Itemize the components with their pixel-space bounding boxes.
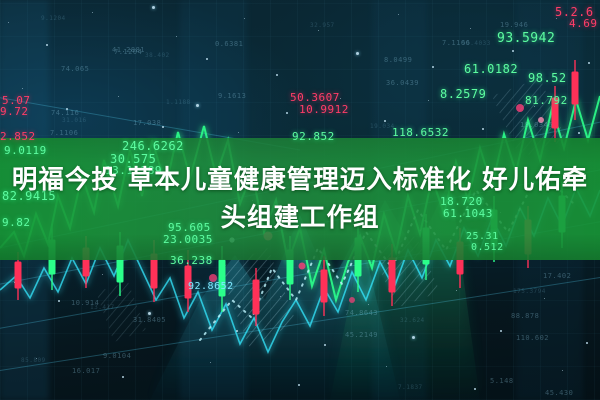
background-number: 7.1106	[50, 130, 78, 137]
background-number: 32.624	[400, 318, 425, 324]
background-number: 9.0104	[103, 353, 131, 360]
background-number: 110.602	[516, 335, 549, 342]
background-number: 31.8405	[133, 317, 166, 324]
background-number: 7.1204	[114, 49, 142, 56]
thumbnail-canvas: 9.120441.28817.120438.40274.0650.63811.1…	[0, 0, 600, 400]
background-number: 9.1613	[218, 93, 246, 100]
chart-value-label: 81.792	[525, 95, 568, 106]
background-number: 175.3794	[513, 289, 546, 295]
background-number: 88.878	[511, 313, 539, 320]
background-number: 1.1188	[166, 100, 191, 106]
background-number: 45.430	[545, 390, 573, 397]
chart-value-label: 61.0182	[464, 63, 518, 75]
chart-value-label: 50.3607	[290, 92, 340, 103]
background-number: 0.6381	[215, 41, 243, 48]
background-number: 17.402	[543, 273, 571, 280]
background-number: 74.065	[61, 66, 89, 73]
background-number: 8.0499	[384, 57, 412, 64]
chart-value-label: 92.8652	[188, 282, 234, 292]
chart-value-label: 9.72	[0, 106, 29, 117]
background-number: 19.0346	[520, 122, 553, 129]
background-number: 31.016	[62, 118, 87, 124]
headline: 明福今投 草本儿童健康管理迈入标准化 好儿佑牵 头组建工作组	[0, 138, 600, 260]
background-number: 9.1204	[41, 16, 66, 22]
background-number: 74.116	[51, 110, 79, 117]
chart-value-label: 118.6532	[392, 127, 449, 138]
background-number: 38.402	[145, 53, 170, 59]
background-number: 74.8643	[345, 310, 378, 317]
chart-value-label: 93.5942	[497, 32, 555, 45]
background-number: 19.034	[370, 124, 395, 130]
background-number: 85.809	[21, 358, 46, 364]
background-number: 19.946	[500, 22, 528, 29]
background-number: 5.148	[490, 378, 514, 385]
background-number: 17.038	[133, 120, 161, 127]
chart-value-label: 10.9912	[299, 104, 349, 115]
background-number: 45.2149	[345, 332, 378, 339]
background-number: 16.017	[72, 368, 100, 375]
chart-value-label: 8.2579	[440, 88, 486, 100]
background-number: 99.4033	[462, 41, 491, 47]
chart-value-label: 98.52	[528, 72, 567, 84]
background-number: 32.957	[310, 23, 335, 29]
chart-value-label: 4.69	[569, 18, 598, 29]
background-number: 36.0439	[386, 80, 419, 87]
background-number: 7.1837	[398, 385, 423, 391]
background-number: 13.417	[90, 305, 115, 311]
headline-line-1: 明福今投 草本儿童健康管理迈入标准化 好儿佑牵	[12, 161, 588, 199]
headline-line-2: 头组建工作组	[220, 199, 379, 237]
